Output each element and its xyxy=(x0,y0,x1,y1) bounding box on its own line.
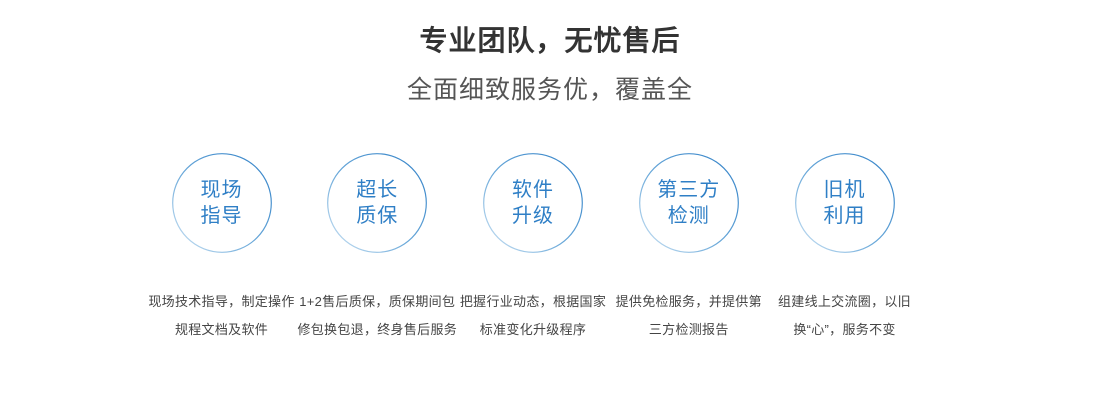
feature-caption: 提供免检服务，并提供第 三方检测报告 xyxy=(604,288,774,344)
feature-circle-3[interactable]: 第三方 检测 xyxy=(639,153,739,253)
page-subtitle: 全面细致服务优，覆盖全 xyxy=(0,72,1100,108)
feature-circle-label: 旧机 利用 xyxy=(824,177,866,229)
feature-circle-label: 超长 质保 xyxy=(356,177,398,229)
feature-circle-label: 第三方 检测 xyxy=(657,177,720,229)
feature-item-2[interactable]: 软件 升级 把握行业动态，根据国家 标准变化升级程序 xyxy=(456,153,611,344)
feature-circle-2[interactable]: 软件 升级 xyxy=(483,153,583,253)
page-title: 专业团队，无忧售后 xyxy=(0,22,1100,60)
feature-list: 现场 指导 现场技术指导，制定操作 规程文档及软件 超长 质保 xyxy=(144,153,922,344)
feature-caption: 1+2售后质保，质保期间包 修包换包退，终身售后服务 xyxy=(292,288,462,344)
feature-item-0[interactable]: 现场 指导 现场技术指导，制定操作 规程文档及软件 xyxy=(144,153,299,344)
feature-caption: 现场技术指导，制定操作 规程文档及软件 xyxy=(137,288,307,344)
feature-caption: 把握行业动态，根据国家 标准变化升级程序 xyxy=(448,288,618,344)
feature-circle-0[interactable]: 现场 指导 xyxy=(172,153,272,253)
feature-circle-label: 现场 指导 xyxy=(201,177,243,229)
heading-block: 专业团队，无忧售后 全面细致服务优，覆盖全 xyxy=(0,22,1100,108)
feature-circle-1[interactable]: 超长 质保 xyxy=(327,153,427,253)
service-promo-banner: 专业团队，无忧售后 全面细致服务优，覆盖全 现场 指导 现场技术指 xyxy=(0,0,1100,404)
feature-circle-label: 软件 升级 xyxy=(512,177,554,229)
feature-circle-4[interactable]: 旧机 利用 xyxy=(795,153,895,253)
feature-item-1[interactable]: 超长 质保 1+2售后质保，质保期间包 修包换包退，终身售后服务 xyxy=(300,153,455,344)
feature-item-4[interactable]: 旧机 利用 组建线上交流圈，以旧 换“心”，服务不变 xyxy=(767,153,922,344)
feature-caption: 组建线上交流圈，以旧 换“心”，服务不变 xyxy=(760,288,930,344)
feature-item-3[interactable]: 第三方 检测 提供免检服务，并提供第 三方检测报告 xyxy=(611,153,766,344)
